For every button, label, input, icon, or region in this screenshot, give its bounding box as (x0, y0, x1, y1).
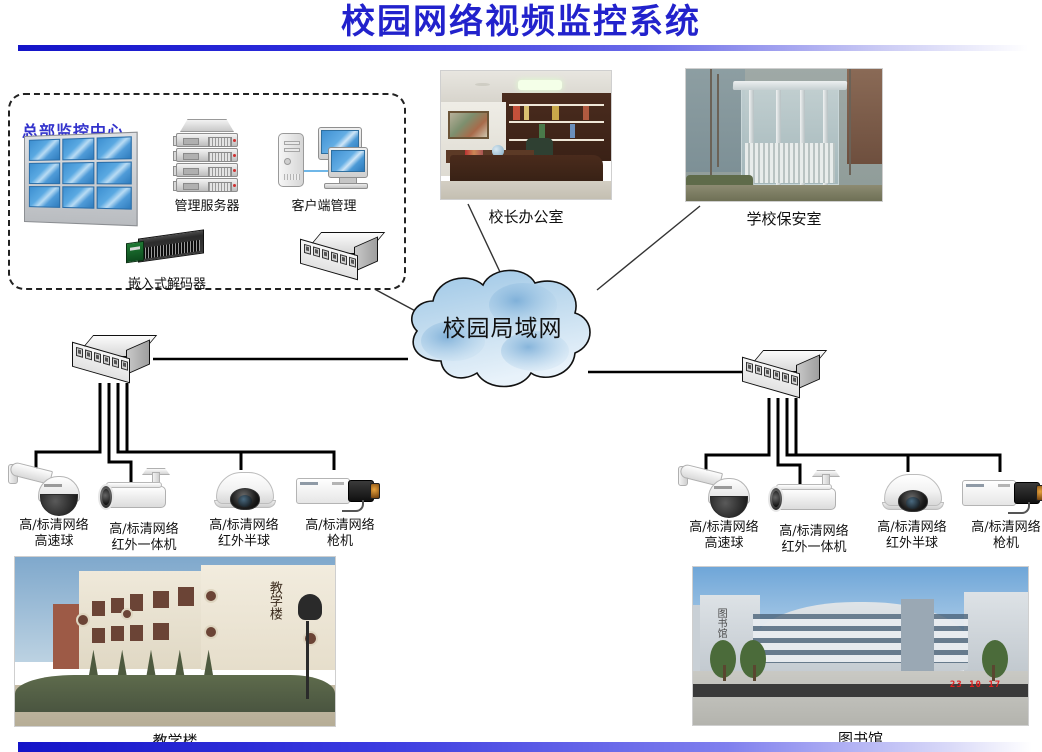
camera-label-line2: 枪机 (292, 534, 388, 550)
pc-cable (304, 170, 330, 172)
switch-right (742, 350, 824, 398)
camera-label-line1: 高/标清网络 (292, 518, 388, 534)
bottom-divider (18, 742, 1032, 752)
video-wall-cell (29, 139, 60, 161)
server-unit (176, 148, 238, 162)
camera-box-left: 高/标清网络 枪机 (292, 462, 388, 550)
camera-box-right: 高/标清网络 枪机 (958, 464, 1042, 552)
principal-office-photo: 校长办公室 (440, 70, 612, 200)
title-divider (18, 45, 1028, 51)
camera-label-line1: 高/标清网络 (766, 524, 862, 540)
server-unit (176, 163, 238, 177)
video-wall-cell (62, 138, 95, 161)
title-area: 校园网络视频监控系统 (0, 0, 1042, 56)
keyboard (324, 183, 368, 189)
campus-lan-label: 校园局域网 (395, 309, 610, 343)
campus-lan-cloud: 校园局域网 (395, 263, 610, 398)
video-wall (14, 136, 130, 248)
camera-label-line1: 高/标清网络 (196, 518, 292, 534)
client-management-label: 客户端管理 (272, 195, 376, 214)
server-top-cover (180, 119, 234, 132)
video-wall-frame (24, 132, 138, 227)
decoder-chassis (138, 229, 204, 262)
speed-dome-icon (676, 464, 772, 520)
ir-dome-icon (196, 462, 292, 518)
client-management-icon (278, 125, 366, 193)
ir-bullet-icon (96, 466, 192, 522)
camera-label-line1: 高/标清网络 (96, 522, 192, 538)
camera-label-line1: 高/标清网络 (864, 520, 960, 536)
camera-label-line2: 红外一体机 (766, 540, 862, 556)
camera-label-line2: 枪机 (958, 536, 1042, 552)
principal-office-caption: 校长办公室 (440, 206, 612, 227)
ir-dome-icon (864, 464, 960, 520)
embedded-decoder-icon (124, 232, 206, 266)
video-wall-cell (97, 136, 132, 160)
management-server-label: 管理服务器 (155, 195, 259, 214)
embedded-decoder-label: 嵌入式解码器 (100, 273, 234, 292)
camera-dome-left: 高/标清网络 红外半球 (196, 462, 292, 550)
management-server-icon (176, 119, 238, 193)
camera-label-line2: 高速球 (676, 536, 772, 552)
switch-left (72, 335, 154, 383)
security-room-caption: 学校保安室 (685, 208, 883, 229)
camera-label-line2: 高速球 (6, 534, 102, 550)
decoder-card (126, 241, 144, 264)
switch-center (300, 232, 382, 280)
camera-label-line2: 红外半球 (196, 534, 292, 550)
box-camera-icon (958, 464, 1042, 520)
photo-timestamp: 23 10 17 (950, 680, 1001, 690)
library-photo: 图书馆 23 10 17 图书馆 (692, 566, 1029, 726)
camera-label-line1: 高/标清网络 (6, 518, 102, 534)
camera-ptz-right: 高/标清网络 高速球 (676, 464, 772, 552)
video-wall-cell (29, 162, 60, 184)
camera-label-line1: 高/标清网络 (958, 520, 1042, 536)
camera-bullet-right: 高/标清网络 红外一体机 (766, 468, 862, 556)
server-unit (176, 133, 238, 147)
video-wall-cell (29, 186, 60, 208)
camera-label-line2: 红外半球 (864, 536, 960, 552)
pc-tower (278, 133, 304, 187)
page-title: 校园网络视频监控系统 (0, 0, 1042, 44)
camera-label-line1: 高/标清网络 (676, 520, 772, 536)
camera-ptz-left: 高/标清网络 高速球 (6, 462, 102, 550)
ir-bullet-icon (766, 468, 862, 524)
box-camera-icon (292, 462, 388, 518)
camera-label-line2: 红外一体机 (96, 538, 192, 554)
speed-dome-icon (6, 462, 102, 518)
video-wall-grid (29, 136, 132, 209)
video-wall-cell (62, 186, 95, 209)
teaching-building-photo: 教学楼 教学楼 (14, 556, 336, 727)
monitor-primary (328, 147, 368, 178)
security-room-photo: 学校保安室 (685, 68, 883, 202)
server-unit (176, 178, 238, 192)
video-wall-cell (62, 162, 95, 184)
video-wall-cell (97, 186, 132, 209)
camera-dome-right: 高/标清网络 红外半球 (864, 464, 960, 552)
video-wall-cell (97, 161, 132, 184)
camera-bullet-left: 高/标清网络 红外一体机 (96, 466, 192, 554)
